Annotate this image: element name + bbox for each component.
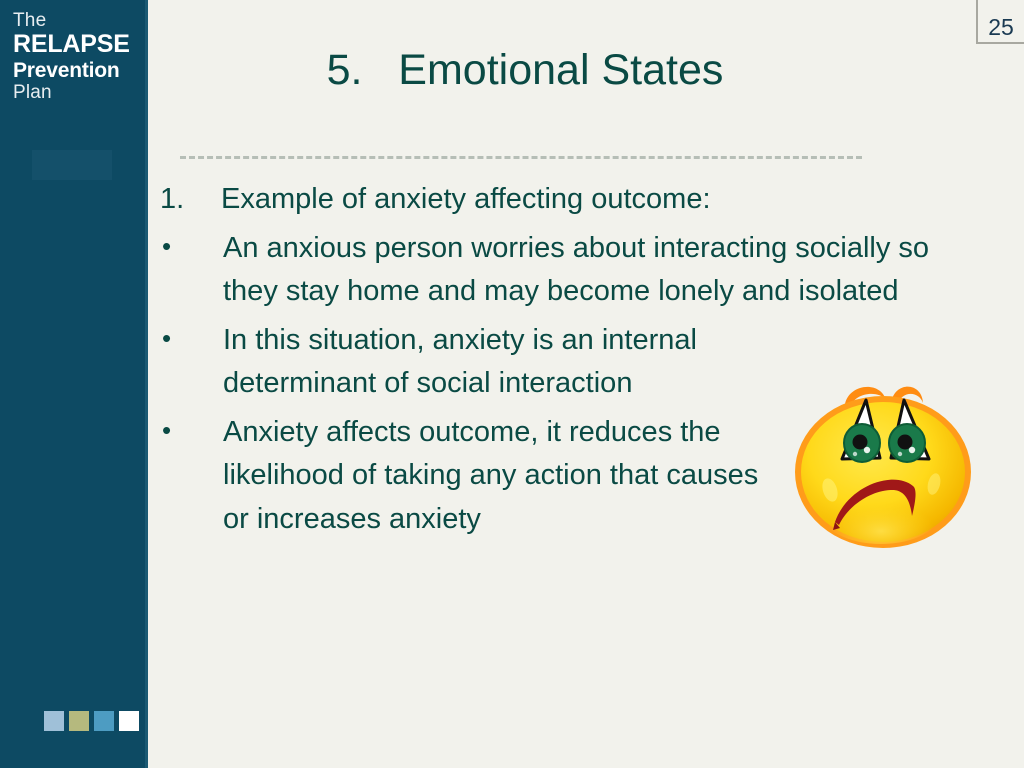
- bullet-text: In this situation, anxiety is an interna…: [223, 319, 783, 406]
- divider-dashed-line: [180, 156, 862, 159]
- swatch-white: [119, 711, 139, 731]
- bullet-dot-marker: •: [160, 227, 223, 266]
- bullet-dot-marker: •: [160, 319, 223, 358]
- bullet-number-marker: 1.: [160, 178, 221, 222]
- brand-logo: The RELAPSE Prevention Plan: [13, 10, 143, 104]
- logo-line-prevention: Prevention: [13, 59, 143, 83]
- sidebar-watermark: [32, 150, 112, 180]
- sad-face-icon: [786, 372, 986, 557]
- swatch-strip: [44, 711, 139, 731]
- slide-canvas: The RELAPSE Prevention Plan 25 5. Emotio…: [0, 0, 1024, 768]
- swatch-olive: [69, 711, 89, 731]
- page-number-badge: 25: [976, 0, 1024, 44]
- bullet-text: Anxiety affects outcome, it reduces the …: [223, 411, 783, 542]
- bullet-text: An anxious person worries about interact…: [223, 227, 990, 314]
- bullet-item: •An anxious person worries about interac…: [160, 227, 990, 314]
- logo-line-the: The: [13, 10, 143, 31]
- page-title: 5. Emotional States: [175, 46, 875, 95]
- swatch-light-blue: [44, 711, 64, 731]
- sidebar-edge-line: [145, 0, 148, 768]
- sidebar: The RELAPSE Prevention Plan: [0, 0, 148, 768]
- sad-worried-face-emoji: [786, 372, 986, 557]
- page-number-text: 25: [988, 16, 1014, 39]
- bullet-dot-marker: •: [160, 411, 223, 450]
- bullet-item: 1.Example of anxiety affecting outcome:: [160, 178, 990, 222]
- swatch-blue: [94, 711, 114, 731]
- bullet-text: Example of anxiety affecting outcome:: [221, 178, 990, 222]
- logo-line-relapse: RELAPSE: [13, 31, 143, 59]
- logo-line-plan: Plan: [13, 82, 143, 103]
